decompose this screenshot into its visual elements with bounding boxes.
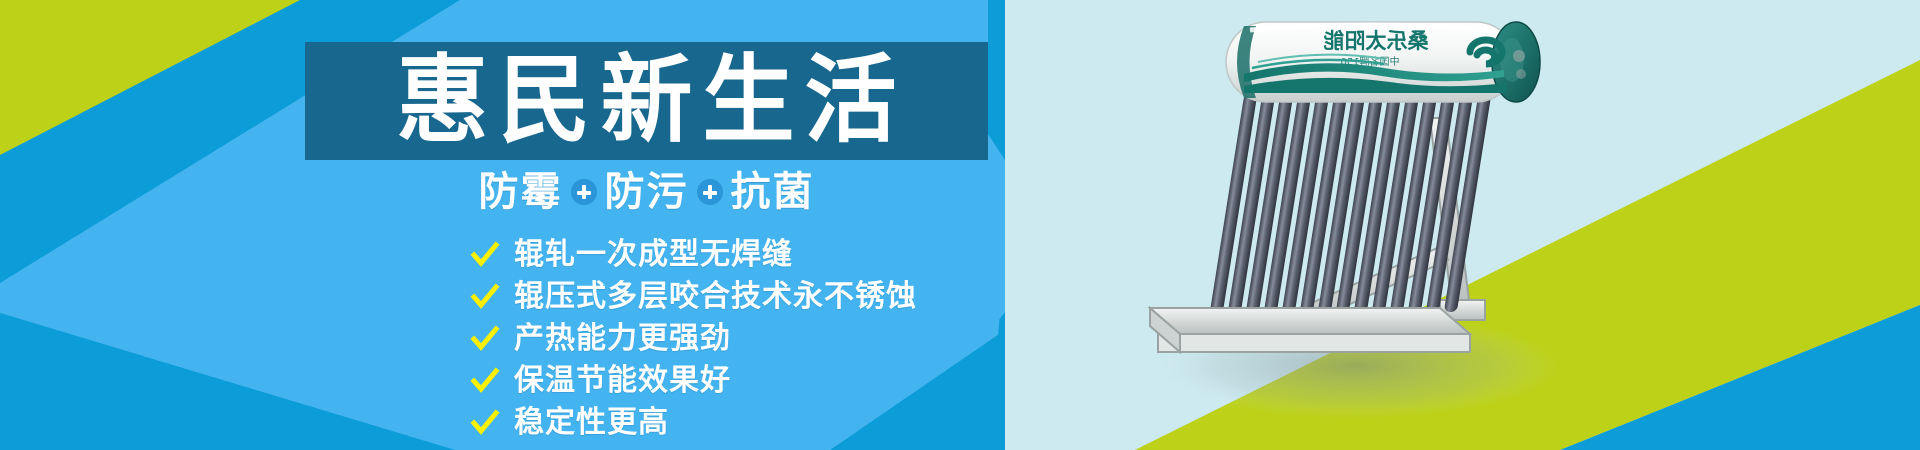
list-item: 稳定性更高 [470,404,1030,442]
plus-badge-icon [571,179,597,205]
subtitle-row: 防霉 防污 抗菌 [305,168,988,216]
product-image-solar-water-heater: 桑乐太阳能 中国名牌150 [1140,8,1620,438]
base-frame [1150,308,1470,352]
subtitle-word-1: 防霉 [479,172,563,212]
vacuum-tube-array [1210,94,1492,312]
feature-label: 产热能力更强劲 [514,324,731,354]
list-item: 保温节能效果好 [470,362,1030,400]
check-icon [470,324,500,354]
headline-plate: 惠民新生活 [305,42,988,160]
list-item: 辊轧一次成型无焊缝 [470,236,1030,274]
feature-label: 保温节能效果好 [514,366,731,396]
plus-badge-icon [697,179,723,205]
check-icon [470,366,500,396]
check-icon [470,240,500,270]
subtitle-word-3: 抗菌 [731,172,815,212]
feature-label: 辊轧一次成型无焊缝 [514,240,793,270]
storage-tank: 桑乐太阳能 中国名牌150 [1226,22,1540,102]
tank-brand-label: 桑乐太阳能 [1324,29,1429,53]
list-item: 辊压式多层咬合技术永不锈蚀 [470,278,1030,316]
page-title: 惠民新生活 [386,53,906,149]
list-item: 产热能力更强劲 [470,320,1030,358]
feature-label: 稳定性更高 [514,408,669,438]
feature-list: 辊轧一次成型无焊缝 辊压式多层咬合技术永不锈蚀 产热能力更强劲 保温节能效果好 [470,236,1030,442]
subtitle-word-2: 防污 [605,172,689,212]
check-icon [470,408,500,438]
feature-label: 辊压式多层咬合技术永不锈蚀 [514,282,917,312]
check-icon [470,282,500,312]
promo-banner: 惠民新生活 防霉 防污 抗菌 辊轧一次成型无焊缝 辊压式多层咬合技术永不锈蚀 产… [0,0,1920,450]
